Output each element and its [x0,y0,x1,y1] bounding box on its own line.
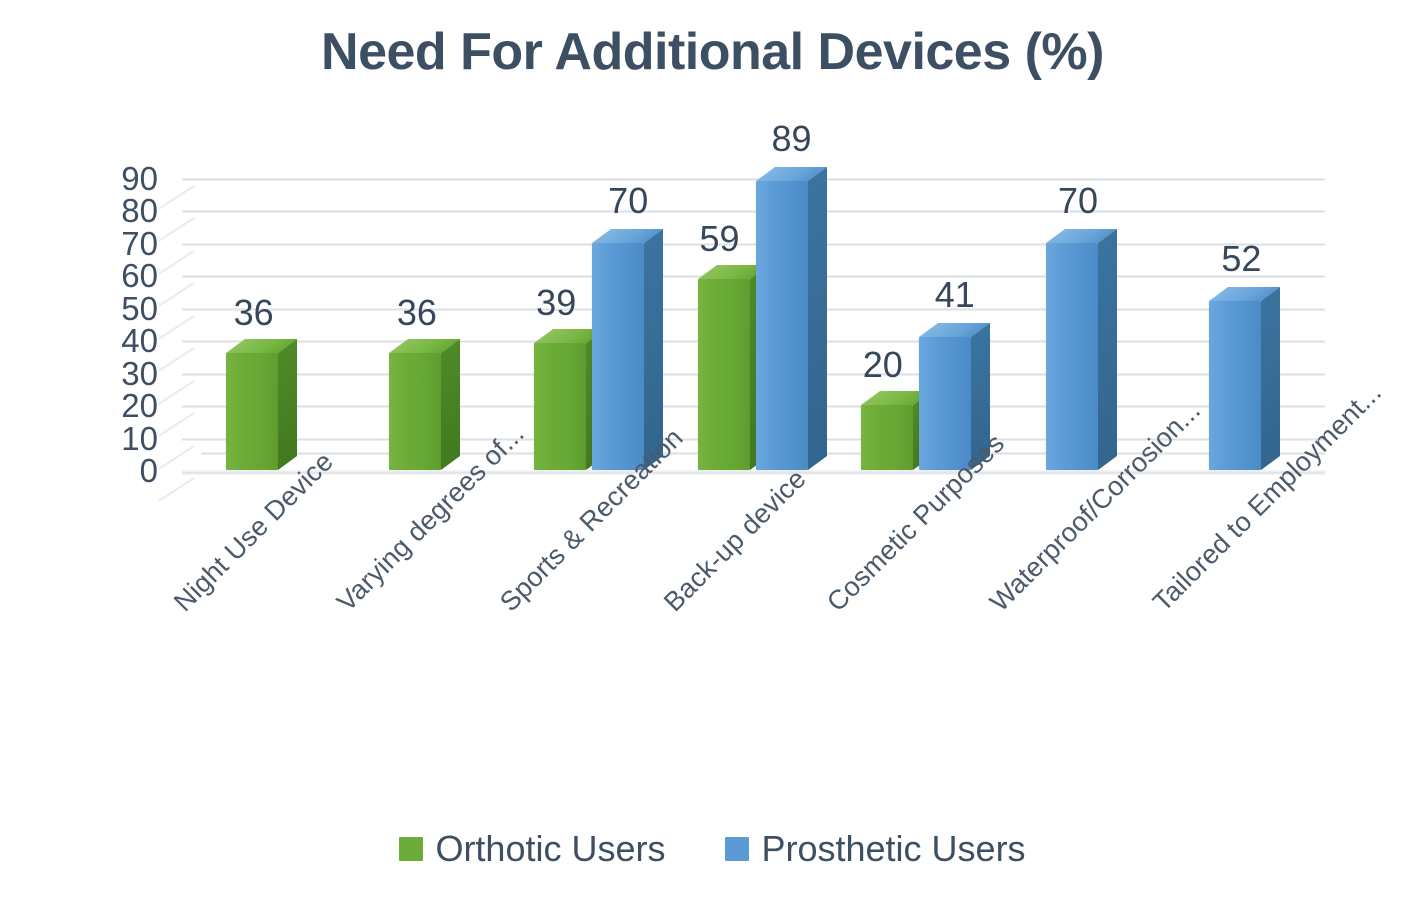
legend-swatch-icon [399,837,423,861]
bar-front-face [1046,243,1098,470]
bar-prosthetic-5[interactable] [1046,229,1098,470]
data-label-prosthetic-6: 52 [1196,241,1286,277]
bar-front-face [534,343,586,470]
bar-side-face [1261,287,1280,470]
bar-front-face [698,279,750,470]
gridline-depth-strip [158,477,194,502]
bar-orthotic-2[interactable] [534,329,586,470]
bar-side-face [278,339,297,470]
chart-title: Need For Additional Devices (%) [0,22,1425,82]
gridline-depth-strip [158,412,194,437]
y-axis-tick-40: 40 [121,324,158,357]
chart-legend: Orthotic UsersProsthetic Users [0,828,1425,870]
legend-item-1[interactable]: Prosthetic Users [725,828,1025,870]
data-label-prosthetic-3: 89 [747,121,837,157]
bar-front-face [861,405,913,470]
data-label-orthotic-2: 39 [511,285,601,321]
legend-label: Prosthetic Users [761,828,1025,870]
gridline-depth-strip [158,282,194,307]
gridline [182,178,1325,181]
y-axis-tick-labels: 9080706050403020100 [96,150,158,475]
y-axis-tick-10: 10 [121,422,158,455]
y-axis-tick-20: 20 [121,389,158,422]
y-axis-tick-50: 50 [121,292,158,325]
bar-side-face [1098,229,1117,470]
data-label-prosthetic-4: 41 [910,277,1000,313]
legend-label: Orthotic Users [435,828,665,870]
y-axis-tick-70: 70 [121,227,158,260]
gridline-depth-strip [158,185,194,210]
y-axis-tick-0: 0 [140,454,158,487]
bar-prosthetic-3[interactable] [756,167,808,470]
gridline-depth-strip [158,347,194,372]
legend-swatch-icon [725,837,749,861]
bar-front-face [592,243,644,470]
data-label-orthotic-0: 36 [209,295,299,331]
gridline-depth-strip [158,380,194,405]
bar-front-face [226,353,278,470]
bar-prosthetic-4[interactable] [919,323,971,470]
bar-front-face [1209,301,1261,470]
axis-baseline [182,470,1325,475]
data-label-orthotic-1: 36 [372,295,462,331]
gridline [182,210,1325,213]
y-axis-tick-90: 90 [121,162,158,195]
y-axis-tick-60: 60 [121,259,158,292]
bar-prosthetic-6[interactable] [1209,287,1261,470]
legend-item-0[interactable]: Orthotic Users [399,828,665,870]
data-label-prosthetic-5: 70 [1033,183,1123,219]
gridline-depth-strip [158,445,194,470]
bar-orthotic-4[interactable] [861,391,913,470]
gridline-depth-strip [158,218,194,243]
y-axis-tick-80: 80 [121,194,158,227]
bar-side-face [808,167,827,470]
data-label-orthotic-3: 59 [675,221,765,257]
bar-orthotic-1[interactable] [389,339,441,470]
data-label-prosthetic-2: 70 [583,183,673,219]
chart-container: Need For Additional Devices (%) 90807060… [0,0,1425,902]
bar-orthotic-3[interactable] [698,265,750,470]
plot-area: 36363970598920417052 [182,150,1325,470]
x-axis-label-3: Back-up device [658,463,812,617]
gridline-depth-strip [158,250,194,275]
y-axis-tick-30: 30 [121,357,158,390]
bar-prosthetic-2[interactable] [592,229,644,470]
gridline-depth-strip [158,315,194,340]
bar-side-face [441,339,460,470]
bar-orthotic-0[interactable] [226,339,278,470]
bar-front-face [389,353,441,470]
data-label-orthotic-4: 20 [838,347,928,383]
